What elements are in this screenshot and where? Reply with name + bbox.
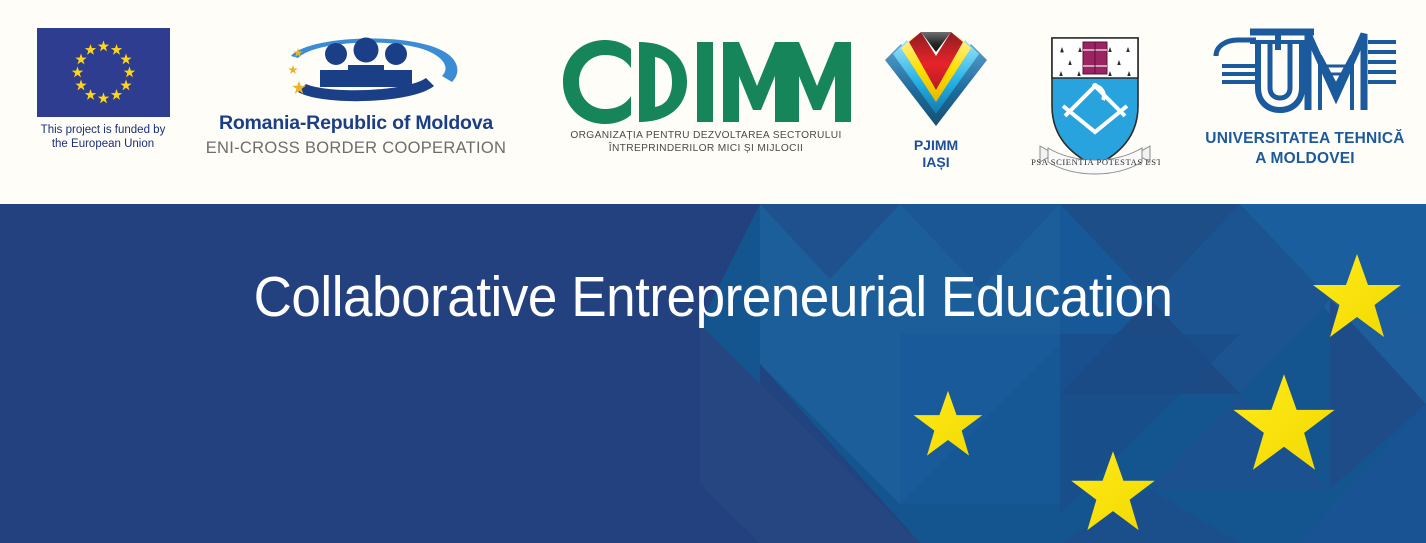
book-icon xyxy=(1083,42,1107,74)
pjimm-label-line-1: PJIMM xyxy=(876,137,996,154)
utm-monogram-icon xyxy=(1210,26,1400,124)
eu-stars-circle-icon xyxy=(37,28,170,117)
eu-stars-decoration xyxy=(0,204,1426,543)
utm-logo: UNIVERSITATEA TEHNICĂ A MOLDOVEI xyxy=(1200,26,1410,168)
pjimm-label-line-2: IAȘI xyxy=(876,154,996,171)
odimm-wordmark-icon xyxy=(561,40,851,124)
eu-caption-line-1: This project is funded by xyxy=(18,123,188,137)
partner-logo-strip: This project is funded by the European U… xyxy=(0,0,1426,204)
decor-star-4 xyxy=(1071,451,1155,530)
pjimm-layered-v-icon xyxy=(881,30,991,135)
european-union-flag-icon xyxy=(37,28,170,117)
cross-border-people-icon xyxy=(236,30,476,108)
heraldic-shield-icon: IPSA SCIENTIA POTESTAS EST xyxy=(1030,28,1160,180)
pjimm-label: PJIMM IAȘI xyxy=(876,137,996,171)
eu-funding-caption: This project is funded by the European U… xyxy=(18,123,188,151)
decor-star-3 xyxy=(1233,374,1334,469)
university-crest-logo: IPSA SCIENTIA POTESTAS EST xyxy=(1030,28,1160,185)
odimm-subtitle-line-2: ÎNTREPRINDERILOR MICI ȘI MIJLOCII xyxy=(556,142,856,155)
romania-moldova-logo: Romania-Republic of Moldova ENI-CROSS BO… xyxy=(196,30,516,158)
cross-border-emblem-icon xyxy=(236,30,476,108)
pjimm-iasi-logo: PJIMM IAȘI xyxy=(876,30,996,171)
utm-letters-icon xyxy=(1210,26,1400,124)
odimm-subtitle-line-1: ORGANIZAȚIA PENTRU DEZVOLTAREA SECTORULU… xyxy=(556,129,856,142)
crest-motto-text: IPSA SCIENTIA POTESTAS EST xyxy=(1030,157,1160,167)
romania-moldova-subtitle: ENI-CROSS BORDER COOPERATION xyxy=(196,139,516,158)
decor-star-1 xyxy=(1313,254,1401,337)
pjimm-chevron-icon xyxy=(881,30,991,135)
utm-name-line-1: UNIVERSITATEA TEHNICĂ xyxy=(1200,130,1410,148)
utm-name-line-2: A MOLDOVEI xyxy=(1200,150,1410,168)
eu-caption-line-2: the European Union xyxy=(18,137,188,151)
odimm-logo: ORGANIZAȚIA PENTRU DEZVOLTAREA SECTORULU… xyxy=(556,40,856,155)
hero-banner: Collaborative Entrepreneurial Education xyxy=(0,204,1426,543)
page-root: This project is funded by the European U… xyxy=(0,0,1426,543)
eu-funding-logo: This project is funded by the European U… xyxy=(18,28,188,151)
decor-star-2 xyxy=(914,391,983,456)
romania-moldova-title: Romania-Republic of Moldova xyxy=(196,112,516,135)
